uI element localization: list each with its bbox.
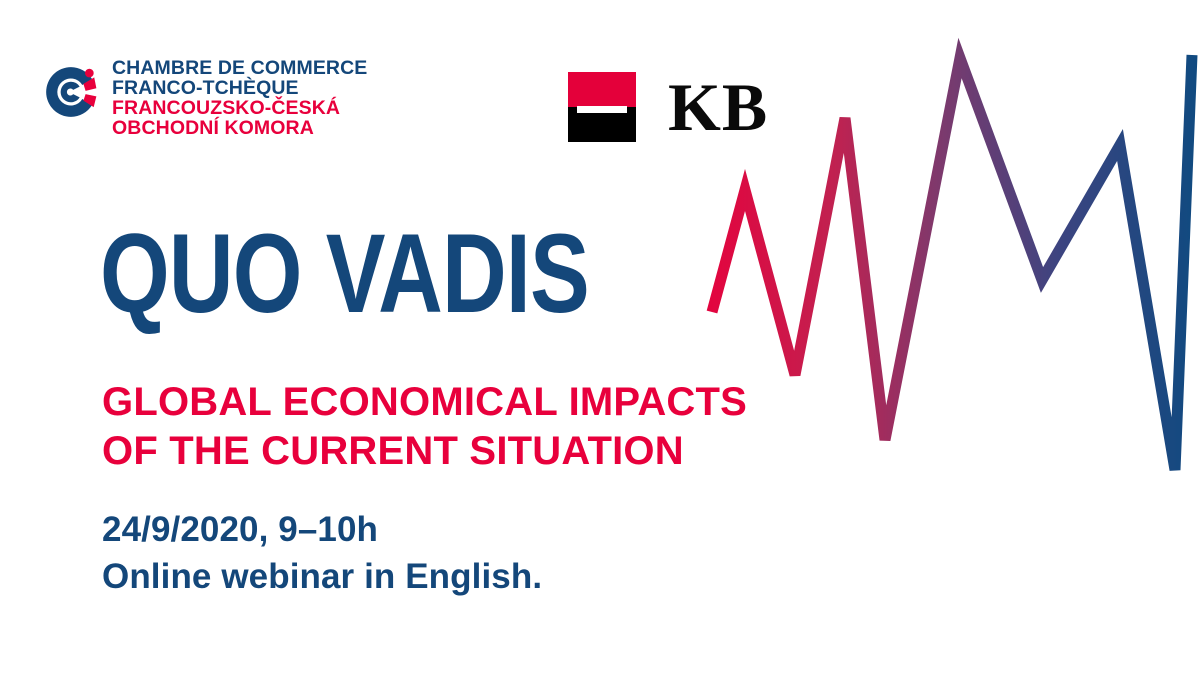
kb-logo[interactable]: KB [568,72,768,142]
zigzag-polyline [712,55,1192,470]
event-details: 24/9/2020, 9–10h Online webinar in Engli… [102,506,542,601]
kb-square-top-red [568,72,636,107]
page-title: QUO VADIS [100,222,589,325]
chamber-of-commerce-logo[interactable]: CHAMBRE DE COMMERCE FRANCO-TCHÈQUE FRANC… [44,58,367,138]
chamber-logo-line-1: CHAMBRE DE COMMERCE [112,58,367,78]
poster-canvas: CHAMBRE DE COMMERCE FRANCO-TCHÈQUE FRANC… [0,0,1200,675]
subtitle: GLOBAL ECONOMICAL IMPACTS OF THE CURRENT… [102,378,747,476]
subtitle-line-1: GLOBAL ECONOMICAL IMPACTS [102,378,747,427]
kb-square-white-bar [577,106,627,113]
kb-wordmark: KB [668,73,768,141]
chamber-logo-wordmark: CHAMBRE DE COMMERCE FRANCO-TCHÈQUE FRANC… [112,58,367,138]
event-format: Online webinar in English. [102,553,542,600]
kb-square-icon [568,72,636,142]
chamber-logo-line-4: OBCHODNÍ KOMORA [112,118,367,138]
chamber-logo-line-3: FRANCOUZSKO-ČESKÁ [112,98,367,118]
subtitle-line-2: OF THE CURRENT SITUATION [102,427,747,476]
chamber-logo-line-2: FRANCO-TCHÈQUE [112,78,367,98]
event-datetime: 24/9/2020, 9–10h [102,506,542,553]
cc-monogram-icon [44,65,98,119]
